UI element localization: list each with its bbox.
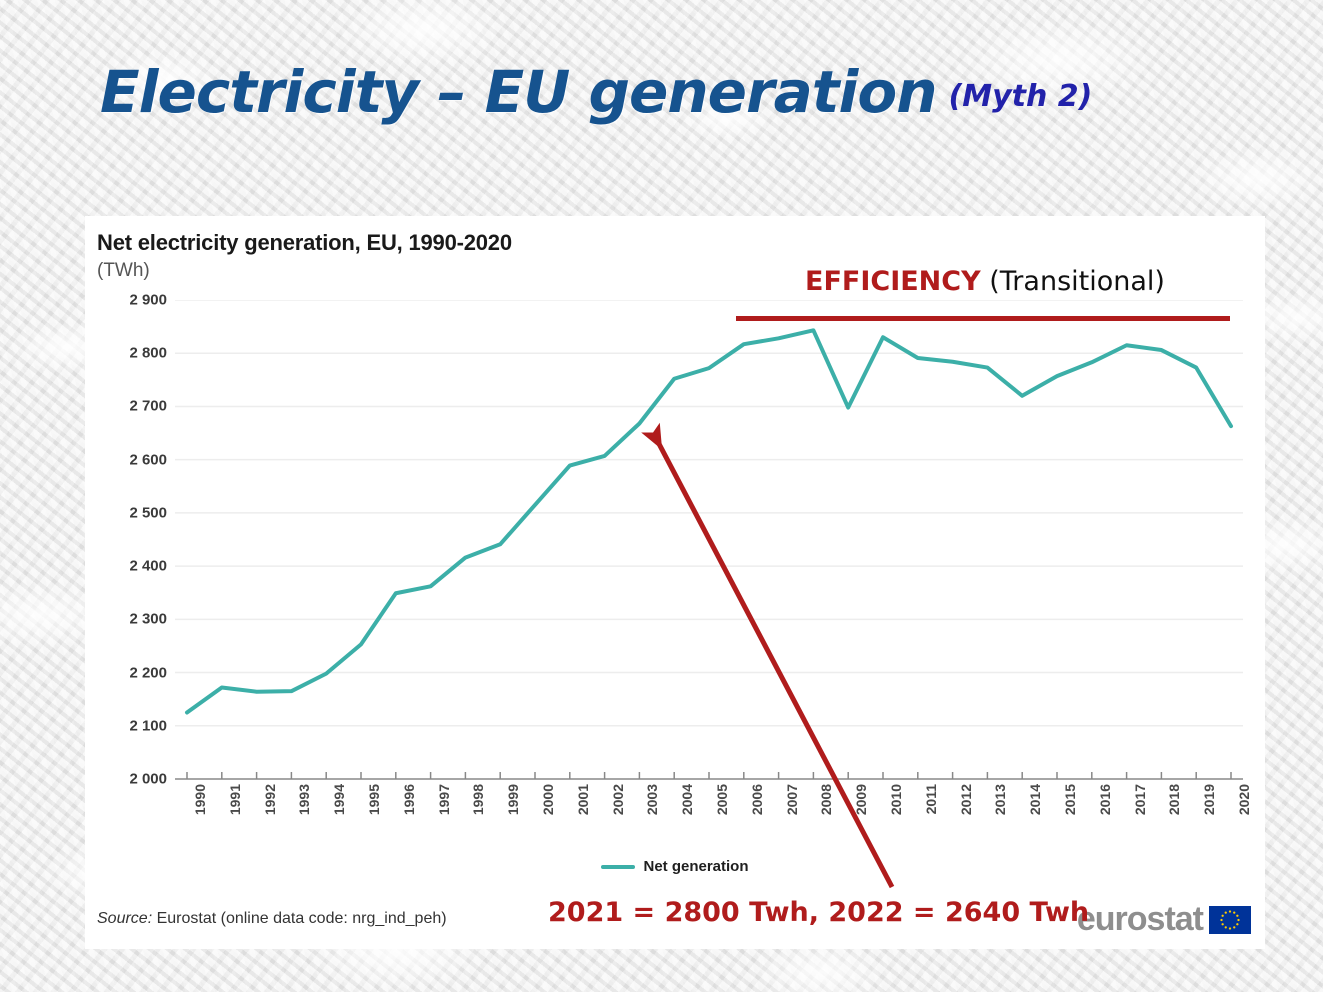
eu-flag-stars-icon (1209, 906, 1251, 934)
x-axis-tick-marks (187, 772, 1231, 779)
y-axis-tick-2600: 2 600 (103, 451, 167, 468)
x-axis-tick-2007: 2007 (784, 784, 800, 815)
efficiency-annotation: EFFICIENCY (Transitional) (805, 266, 1165, 297)
x-axis-tick-1993: 1993 (296, 784, 312, 815)
page-title-suffix: (Myth 2) (949, 79, 1093, 114)
x-axis-tick-2019: 2019 (1201, 784, 1217, 815)
x-axis-tick-2002: 2002 (610, 784, 626, 815)
x-axis-tick-1990: 1990 (192, 784, 208, 815)
legend-label-net-generation: Net generation (643, 858, 748, 875)
eurostat-wordmark: eurostat (1077, 900, 1203, 939)
chart-legend: Net generation (85, 858, 1265, 875)
x-axis-tick-2006: 2006 (749, 784, 765, 815)
forecast-annotation: 2021 = 2800 Twh, 2022 = 2640 Twh (548, 897, 1089, 928)
y-axis-tick-2800: 2 800 (103, 345, 167, 362)
net-generation-line (187, 330, 1231, 712)
x-axis-tick-2012: 2012 (958, 784, 974, 815)
x-axis-tick-2013: 2013 (992, 784, 1008, 815)
x-axis-tick-1999: 1999 (505, 784, 521, 815)
x-axis-tick-2014: 2014 (1027, 784, 1043, 815)
x-axis-tick-2005: 2005 (714, 784, 730, 815)
source-word: Source: (97, 910, 152, 927)
line-chart-svg (175, 300, 1243, 780)
legend-swatch-net-generation (601, 865, 635, 869)
page-title-main: Electricity – EU generation (100, 58, 937, 126)
x-axis-tick-2003: 2003 (644, 784, 660, 815)
eurostat-logo: eurostat (1077, 900, 1251, 939)
x-axis-tick-1996: 1996 (401, 784, 417, 815)
eu-flag-icon (1209, 906, 1251, 934)
y-axis-tick-2700: 2 700 (103, 398, 167, 415)
chart-title: Net electricity generation, EU, 1990-202… (97, 230, 512, 256)
x-axis-tick-2008: 2008 (818, 784, 834, 815)
chart-source: Source: Eurostat (online data code: nrg_… (97, 910, 447, 928)
page-title: Electricity – EU generation(Myth 2) (100, 58, 1092, 126)
x-axis-tick-1991: 1991 (227, 784, 243, 815)
x-axis-tick-2018: 2018 (1166, 784, 1182, 815)
x-axis-tick-2010: 2010 (888, 784, 904, 815)
x-axis-tick-2016: 2016 (1097, 784, 1113, 815)
x-axis-tick-1992: 1992 (262, 784, 278, 815)
x-axis-tick-2020: 2020 (1236, 784, 1252, 815)
x-axis-tick-2000: 2000 (540, 784, 556, 815)
y-axis-tick-2300: 2 300 (103, 611, 167, 628)
efficiency-keyword: EFFICIENCY (805, 266, 981, 297)
x-axis-tick-1995: 1995 (366, 784, 382, 815)
x-axis-tick-1998: 1998 (470, 784, 486, 815)
x-axis-tick-1997: 1997 (436, 784, 452, 815)
efficiency-qualifier: (Transitional) (989, 266, 1165, 297)
plot-area (175, 300, 1243, 780)
y-axis-tick-2100: 2 100 (103, 717, 167, 734)
source-detail: Eurostat (online data code: nrg_ind_peh) (152, 910, 446, 927)
x-axis-tick-2004: 2004 (679, 784, 695, 815)
x-axis-tick-2015: 2015 (1062, 784, 1078, 815)
x-axis-tick-2017: 2017 (1132, 784, 1148, 815)
y-axis-tick-labels: 2 0002 1002 2002 3002 4002 5002 6002 700… (97, 300, 167, 780)
chart-unit-label: (TWh) (97, 260, 150, 282)
efficiency-underline-rule (736, 316, 1230, 321)
x-axis-tick-2009: 2009 (853, 784, 869, 815)
y-axis-tick-2200: 2 200 (103, 664, 167, 681)
y-axis-tick-2900: 2 900 (103, 292, 167, 309)
x-axis-tick-1994: 1994 (331, 784, 347, 815)
x-axis-tick-2001: 2001 (575, 784, 591, 815)
chart-panel: Net electricity generation, EU, 1990-202… (85, 216, 1265, 949)
x-axis-tick-2011: 2011 (923, 784, 939, 814)
y-axis-tick-2000: 2 000 (103, 771, 167, 788)
y-axis-tick-2500: 2 500 (103, 504, 167, 521)
y-axis-tick-2400: 2 400 (103, 558, 167, 575)
